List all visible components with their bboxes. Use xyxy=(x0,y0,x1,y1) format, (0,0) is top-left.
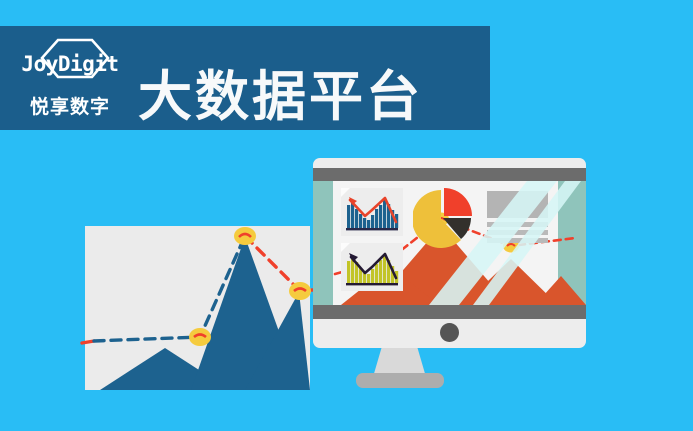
poster-canvas: JoyDigit 悦享数字 大数据平台 xyxy=(0,0,693,431)
header-banner: JoyDigit 悦享数字 大数据平台 xyxy=(0,26,490,130)
olive-bar-chart xyxy=(341,243,403,291)
trend-node xyxy=(289,282,311,300)
text-line xyxy=(487,230,548,235)
logo-subtitle: 悦享数字 xyxy=(14,92,126,119)
text-placeholder-block xyxy=(487,191,548,241)
blue-bar-chart-card xyxy=(341,188,403,236)
image-placeholder xyxy=(487,191,548,218)
monitor-screen xyxy=(313,181,586,305)
pie-chart xyxy=(413,187,475,249)
monitor-bottom-bar xyxy=(313,305,586,319)
monitor xyxy=(313,158,586,348)
stand-base xyxy=(356,373,444,388)
page-title: 大数据平台 xyxy=(138,70,423,124)
text-line xyxy=(487,238,548,243)
monitor-stand xyxy=(313,348,586,388)
monitor-power-button[interactable] xyxy=(440,323,459,342)
blue-bar-chart xyxy=(341,188,403,236)
olive-bar-chart-card xyxy=(341,243,403,291)
trend-node xyxy=(234,227,256,245)
text-line xyxy=(487,222,548,227)
pie-chart-graphic xyxy=(413,187,475,249)
trend-node xyxy=(189,328,211,346)
monitor-top-bar xyxy=(313,168,586,181)
logo-wordmark: JoyDigit xyxy=(14,52,126,76)
joydigit-logo: JoyDigit 悦享数字 xyxy=(14,36,126,122)
